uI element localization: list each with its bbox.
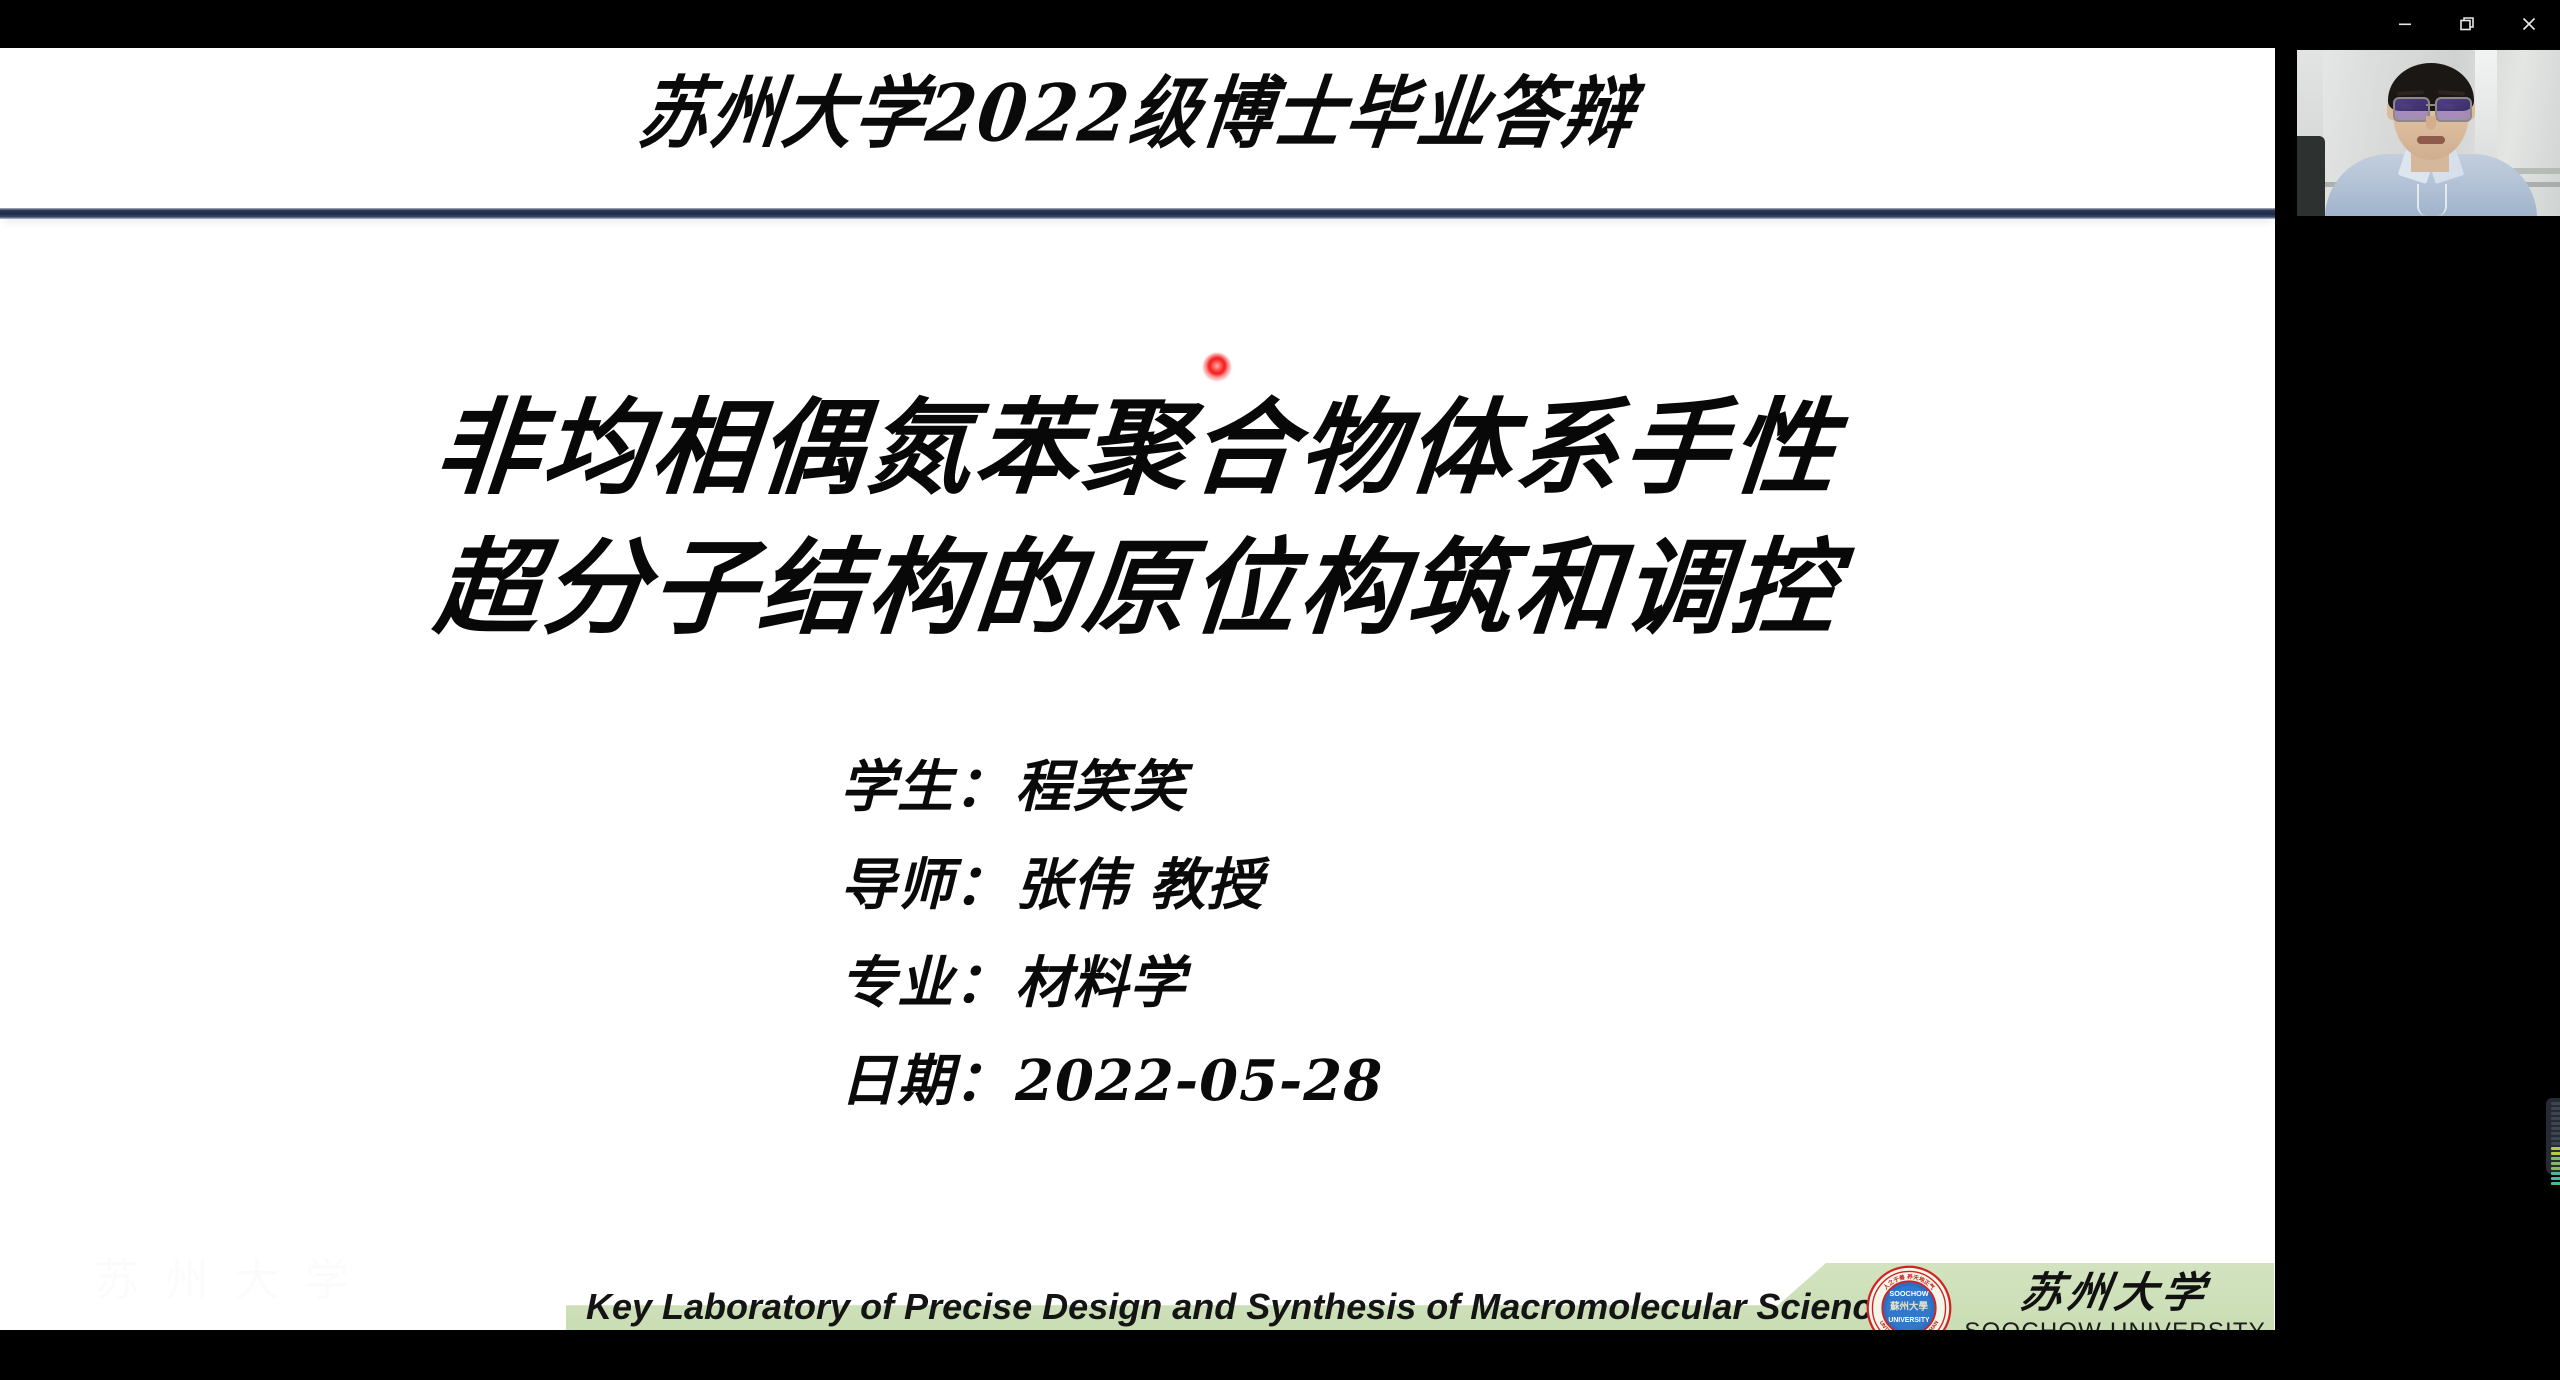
meter-segment — [2551, 1117, 2560, 1120]
video-dark-cabinet — [2297, 136, 2325, 216]
meter-segment — [2551, 1177, 2560, 1180]
meter-segment — [2551, 1112, 2560, 1115]
meta-label-date: 日期： — [840, 1032, 1011, 1130]
glasses-lens-right — [2435, 97, 2472, 122]
meter-segment — [2551, 1127, 2560, 1130]
minimize-icon — [2394, 13, 2416, 35]
meta-value-date: 2022-05-28 — [1015, 1032, 1383, 1130]
meta-value-advisor: 张伟 教授 — [1015, 836, 1264, 934]
university-logo: SOOCHOW 蘇州大學 UNIVERSITY 人之于善 养天地正气 UNTO … — [1866, 1262, 2266, 1330]
meta-row-student: 学生： 程笑笑 — [840, 738, 1383, 836]
presenter-eyebrows — [2396, 91, 2466, 95]
screen-share-window: Minimize Restore Close — [0, 0, 2560, 1380]
presenter-video-tile[interactable]: Presenter camera — [2297, 50, 2560, 216]
university-name-en: SOOCHOW UNIVERSITY — [1964, 1320, 2266, 1330]
meter-segment — [2551, 1147, 2560, 1150]
meter-segment — [2551, 1107, 2560, 1110]
meter-segment — [2551, 1102, 2560, 1105]
meta-row-major: 专业： 材料学 — [840, 934, 1383, 1032]
slide-meta-list: 学生： 程笑笑 导师： 张伟 教授 专业： 材料学 日期： 2022-05-28 — [840, 738, 1383, 1130]
presenter-nose — [2426, 116, 2436, 130]
meta-value-student: 程笑笑 — [1015, 738, 1186, 836]
presenter-lanyard — [2417, 184, 2447, 216]
presentation-slide[interactable]: 苏州大学2022级博士毕业答辩 非均相偶氮苯聚合物体系手性 超分子结构的原位构筑… — [0, 48, 2275, 1330]
slide-watermark: 苏州大学 — [95, 1244, 375, 1308]
meter-segment — [2551, 1162, 2560, 1165]
meter-segment — [2551, 1122, 2560, 1125]
university-name-cn: 苏州大学 — [2018, 1272, 2213, 1314]
slide-main-title: 非均相偶氮苯聚合物体系手性 超分子结构的原位构筑和调控 — [0, 378, 2275, 658]
university-seal-icon: SOOCHOW 蘇州大學 UNIVERSITY 人之于善 养天地正气 UNTO … — [1866, 1265, 1952, 1330]
slide-header: 苏州大学2022级博士毕业答辩 — [0, 48, 2275, 166]
meter-segment — [2551, 1157, 2560, 1160]
close-button[interactable]: Close — [2498, 0, 2560, 48]
window-controls: Minimize Restore Close — [2374, 0, 2560, 48]
lab-name-text: Key Laboratory of Precise Design and Syn… — [586, 1286, 1892, 1328]
audio-level-meter[interactable]: Microphone level — [2546, 1098, 2560, 1174]
meter-segment — [2551, 1137, 2560, 1140]
minimize-button[interactable]: Minimize — [2374, 0, 2436, 48]
slide-header-title: 苏州大学2022级博士毕业答辩 — [633, 50, 1642, 163]
glasses-lens-left — [2393, 97, 2430, 122]
window-titlebar: Minimize Restore Close — [0, 0, 2560, 48]
slide-title-line-2: 超分子结构的原位构筑和调控 — [0, 518, 2275, 658]
close-icon — [2518, 13, 2540, 35]
header-divider-rule — [0, 208, 2275, 219]
svg-text:SOOCHOW: SOOCHOW — [1890, 1289, 1929, 1298]
presenter-mouth — [2417, 136, 2445, 144]
slide-footer-banner: Key Laboratory of Precise Design and Syn… — [566, 1263, 2274, 1330]
restore-icon — [2456, 13, 2478, 35]
meter-segment — [2551, 1152, 2560, 1155]
glasses-icon — [2385, 97, 2477, 118]
meta-row-date: 日期： 2022-05-28 — [840, 1032, 1383, 1130]
meta-row-advisor: 导师： 张伟 教授 — [840, 836, 1383, 934]
svg-text:蘇州大學: 蘇州大學 — [1889, 1301, 1928, 1313]
meter-segment — [2551, 1142, 2560, 1145]
restore-button[interactable]: Restore — [2436, 0, 2498, 48]
meta-label-advisor: 导师： — [840, 836, 1011, 934]
meta-label-student: 学生： — [840, 738, 1011, 836]
meter-segment — [2551, 1172, 2560, 1175]
university-wordmark: 苏州大学 SOOCHOW UNIVERSITY — [1964, 1272, 2266, 1330]
meta-label-major: 专业： — [840, 934, 1011, 1032]
meter-segment — [2551, 1167, 2560, 1170]
meta-value-major: 材料学 — [1015, 934, 1186, 1032]
slide-title-line-1: 非均相偶氮苯聚合物体系手性 — [0, 378, 2275, 518]
meter-segment — [2551, 1182, 2560, 1185]
svg-text:UNIVERSITY: UNIVERSITY — [1889, 1317, 1931, 1324]
meter-segment — [2551, 1132, 2560, 1135]
laser-pointer-dot — [1203, 353, 1231, 381]
